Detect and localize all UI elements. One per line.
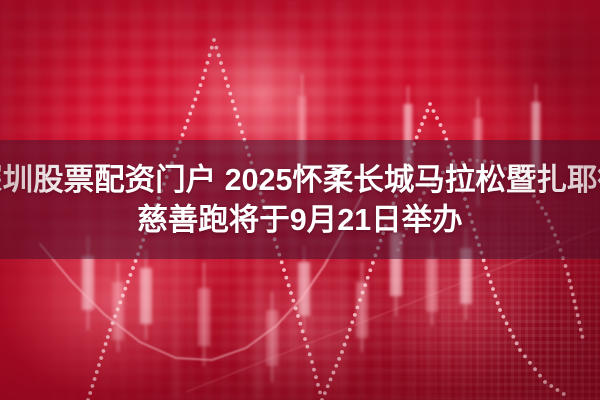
headline-block: 深圳股票配资门户 2025怀柔长城马拉松暨扎耶德 慈善跑将于9月21日举办 bbox=[0, 140, 600, 259]
stock-banner-image: 深圳股票配资门户 2025怀柔长城马拉松暨扎耶德 慈善跑将于9月21日举办 bbox=[0, 0, 600, 400]
headline-line-1: 深圳股票配资门户 2025怀柔长城马拉松暨扎耶德 bbox=[0, 163, 600, 197]
headline-line-2: 慈善跑将于9月21日举办 bbox=[137, 203, 462, 237]
